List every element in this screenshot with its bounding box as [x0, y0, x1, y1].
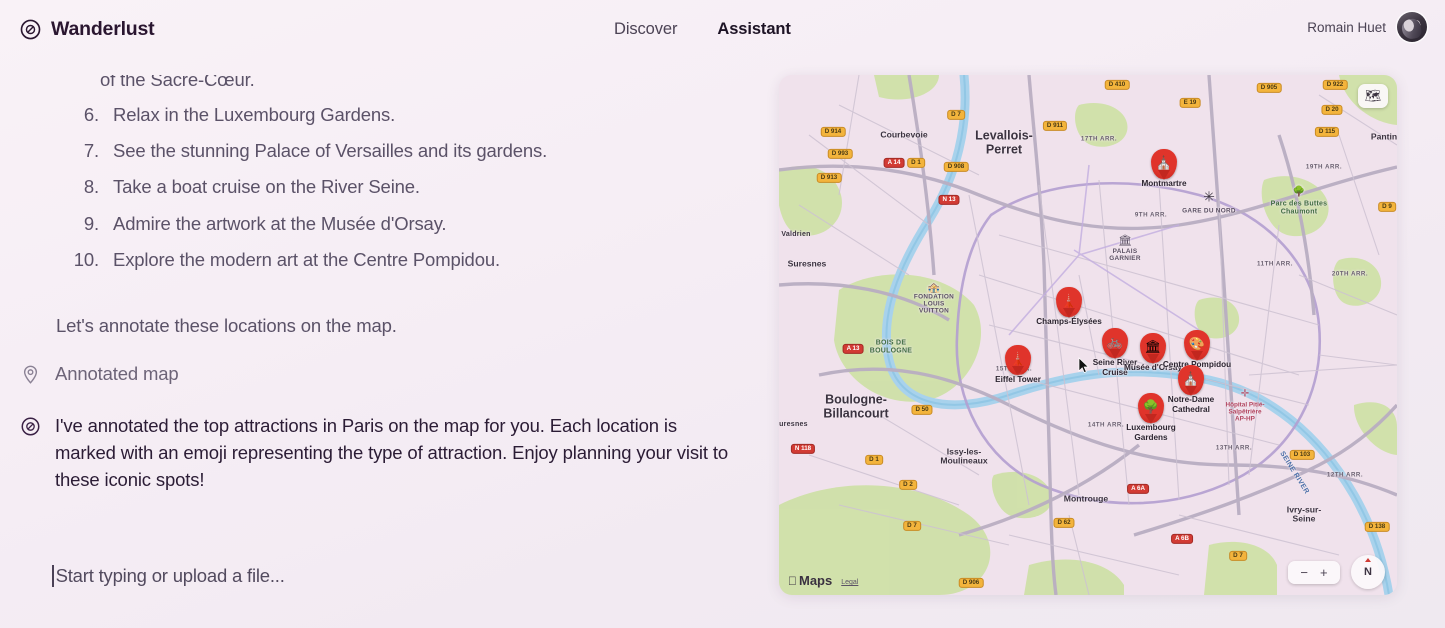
partial-text-line: of the Sacre-Cœur. [100, 69, 255, 91]
list-item: 10. Explore the modern art at the Centre… [56, 249, 736, 271]
road-shield: D 993 [828, 149, 853, 159]
place-label: 11TH ARR. [1257, 262, 1293, 269]
place-label: 9TH ARR. [1135, 213, 1167, 220]
avatar[interactable] [1397, 12, 1427, 42]
main-nav: Discover Assistant [614, 20, 791, 39]
map-marker-centre-pompidou[interactable]: 🎨 Centre Pompidou [1184, 330, 1210, 360]
list-item-label: Explore the modern art at the Centre Pom… [113, 249, 500, 271]
compass-icon [19, 18, 42, 41]
place-label: Boulogne- Billancourt [823, 394, 888, 421]
place-label: Valdrien [781, 231, 810, 239]
pin-shape: 🎨 [1184, 330, 1210, 360]
place-label: Pantin [1371, 132, 1397, 141]
list-item-number: 9. [56, 213, 99, 235]
museum-icon: 🏤 [928, 284, 940, 295]
app-header: Wanderlust Discover Assistant Romain Hue… [0, 0, 1445, 62]
road-shield: A 6B [1171, 534, 1193, 544]
road-shield: D 7 [947, 110, 965, 120]
place-label: 19TH ARR. [1306, 165, 1342, 172]
marker-label: Champs-Élysées [1036, 317, 1102, 327]
composer[interactable]: Start typing or upload a file... [52, 565, 285, 587]
legal-link[interactable]: Legal [841, 579, 858, 588]
road-shield: D 7 [903, 521, 921, 531]
road-shield: E 19 [1180, 98, 1201, 108]
place-label: 12TH ARR. [1327, 473, 1363, 480]
map-marker-seine-river-cruise[interactable]: 🚲 Seine River Cruise [1102, 328, 1128, 358]
road-shield: N 118 [791, 444, 815, 454]
nav-item-assistant[interactable]: Assistant [717, 20, 790, 39]
nav-item-discover[interactable]: Discover [614, 20, 677, 39]
road-shield: D 908 [944, 162, 969, 172]
maps-wordmark: Maps [799, 573, 832, 588]
road-shield: D 7 [1229, 551, 1247, 561]
apple-maps-logo:  Maps [788, 573, 832, 588]
chat-panel: of the Sacre-Cœur. 6. Relax in the Luxem… [0, 60, 760, 628]
apple-icon:  [788, 574, 797, 588]
road-shield: A 13 [843, 344, 864, 354]
place-label: 17TH ARR. [1081, 137, 1117, 144]
road-shield: D 138 [1365, 522, 1390, 532]
map-layers-icon: 🗺 [1365, 88, 1382, 104]
road-shield: D 115 [1315, 127, 1339, 137]
user-menu[interactable]: Romain Huet [1307, 12, 1427, 42]
road-shield: D 20 [1321, 105, 1342, 115]
road-shield: D 911 [1043, 121, 1067, 131]
list-item-label: Take a boat cruise on the River Seine. [113, 176, 420, 198]
map-pin-icon [20, 364, 41, 385]
place-label: Levallois- Perret [975, 130, 1033, 157]
place-label: GARE DU NORD [1182, 209, 1236, 216]
pin-shape: ⛪ [1178, 365, 1204, 395]
marker-emoji: 🚲 [1107, 335, 1123, 348]
marker-emoji: ⛪ [1183, 372, 1199, 385]
assistant-message-text: I've annotated the top attractions in Pa… [55, 412, 736, 493]
place-label: Parc des Buttes Chaumont [1271, 200, 1328, 215]
list-item-label: Admire the artwork at the Musée d'Orsay. [113, 213, 446, 235]
road-shield: D 922 [1323, 80, 1348, 90]
mouse-cursor [1078, 357, 1090, 374]
closing-line: Let's annotate these locations on the ma… [56, 315, 397, 337]
place-label: Hôpital Pitié- Salpêtrière AP-HP [1225, 403, 1264, 424]
place-label: Suresnes [788, 259, 827, 268]
marker-label: Luxembourg Gardens [1126, 423, 1176, 442]
zoom-out-button[interactable]: − [1300, 566, 1308, 579]
pin-shape: 🗼 [1056, 287, 1082, 317]
place-label: PALAIS GARNIER [1109, 249, 1141, 263]
place-label: Issy-les- Moulineaux [940, 448, 987, 467]
road-shield: D 62 [1053, 518, 1074, 528]
marker-label: Eiffel Tower [995, 375, 1041, 385]
place-label: Courbevoie [880, 130, 927, 139]
marker-emoji: 🗼 [1061, 294, 1077, 307]
train-station-icon: ✳ [1203, 189, 1215, 204]
brand-name: Wanderlust [51, 18, 154, 41]
map-marker-musee-dorsay[interactable]: 🏛 Musée d'Orsay [1140, 333, 1166, 363]
road-shield: D 103 [1290, 450, 1315, 460]
park-icon: 🌳 [1293, 188, 1305, 199]
landmark-icon: 🏛 [1118, 236, 1132, 248]
pin-shape: 🚲 [1102, 328, 1128, 358]
map-type-button[interactable]: 🗺 [1358, 84, 1388, 108]
compass-needle-icon [1365, 558, 1371, 562]
road-shield: D 913 [817, 173, 842, 183]
marker-emoji: 🎨 [1189, 337, 1205, 350]
map-marker-montmartre[interactable]: ⛪ Montmartre [1151, 149, 1177, 179]
map-marker-eiffel-tower[interactable]: 🗼 Eiffel Tower [1005, 345, 1031, 375]
list-item-number: 6. [56, 104, 99, 126]
map-attribution:  Maps Legal [788, 573, 858, 588]
road-shield: D 2 [899, 480, 917, 490]
pin-shape: 🗼 [1005, 345, 1031, 375]
place-label: Suresnes [779, 421, 808, 429]
compass-control[interactable]: N [1351, 555, 1385, 589]
list-item: 9. Admire the artwork at the Musée d'Ors… [56, 213, 736, 235]
user-name: Romain Huet [1307, 20, 1386, 35]
place-label: FONDATION LOUIS VUITTON [914, 295, 954, 316]
map-marker-notre-dame-cathedral[interactable]: ⛪ Notre-Dame Cathedral [1178, 365, 1204, 395]
place-label: 20TH ARR. [1332, 272, 1368, 279]
pin-shape: ⛪ [1151, 149, 1177, 179]
road-shield: D 9 [1378, 202, 1396, 212]
zoom-in-button[interactable]: + [1320, 566, 1328, 579]
pin-shape: 🏛 [1140, 333, 1166, 363]
road-shield: D 50 [911, 405, 932, 415]
road-shield: N 13 [938, 195, 959, 205]
place-label: 13TH ARR. [1216, 446, 1252, 453]
road-shield: D 906 [959, 578, 984, 588]
marker-emoji: ⛪ [1156, 156, 1172, 169]
map-marker-champs-elysees[interactable]: 🗼 Champs-Élysées [1056, 287, 1082, 317]
place-label: Montrouge [1064, 494, 1108, 503]
place-label: 14TH ARR. [1088, 423, 1124, 430]
map-marker-luxembourg-gardens[interactable]: 🌳 Luxembourg Gardens [1138, 393, 1164, 423]
compass-label: N [1364, 566, 1372, 578]
list-item-number: 10. [56, 249, 99, 271]
list-item-label: See the stunning Palace of Versailles an… [113, 140, 547, 162]
compass-icon [20, 416, 41, 437]
text-caret [52, 565, 54, 587]
road-shield: D 410 [1105, 80, 1130, 90]
road-shield: D 1 [865, 455, 883, 465]
marker-emoji: 🌳 [1143, 400, 1159, 413]
road-shield: A 14 [884, 158, 905, 168]
brand[interactable]: Wanderlust [19, 18, 154, 41]
list-item-label: Relax in the Luxembourg Gardens. [113, 104, 395, 126]
list-item-number: 8. [56, 176, 99, 198]
road-shield: D 914 [821, 127, 846, 137]
marker-emoji: 🏛 [1145, 340, 1162, 353]
road-shield: D 905 [1257, 83, 1282, 93]
list-item: 6. Relax in the Luxembourg Gardens. [56, 104, 736, 126]
list-item-number: 7. [56, 140, 99, 162]
zoom-controls[interactable]: − + [1288, 561, 1340, 584]
list-item: 8. Take a boat cruise on the River Seine… [56, 176, 736, 198]
marker-emoji: 🗼 [1010, 352, 1026, 365]
assistant-message: I've annotated the top attractions in Pa… [20, 412, 736, 493]
road-shield: A 6A [1127, 484, 1149, 494]
list-item: 7. See the stunning Palace of Versailles… [56, 140, 736, 162]
place-label: BOIS DE BOULOGNE [870, 339, 912, 354]
hospital-icon: ✛ [1241, 390, 1249, 401]
road-shield: D 1 [907, 158, 925, 168]
map-panel[interactable]: Courbevoie Levallois- Perret Suresnes Va… [779, 75, 1397, 595]
place-label: Ivry-sur- Seine [1287, 506, 1321, 525]
marker-label: Montmartre [1141, 179, 1186, 189]
tool-call-row: Annotated map [20, 363, 179, 385]
attractions-list: 6. Relax in the Luxembourg Gardens. 7. S… [56, 104, 736, 285]
composer-placeholder[interactable]: Start typing or upload a file... [56, 565, 285, 587]
pin-shape: 🌳 [1138, 393, 1164, 423]
tool-call-label: Annotated map [55, 363, 179, 385]
marker-label: Notre-Dame Cathedral [1168, 395, 1214, 414]
map-canvas[interactable]: Courbevoie Levallois- Perret Suresnes Va… [779, 75, 1397, 595]
